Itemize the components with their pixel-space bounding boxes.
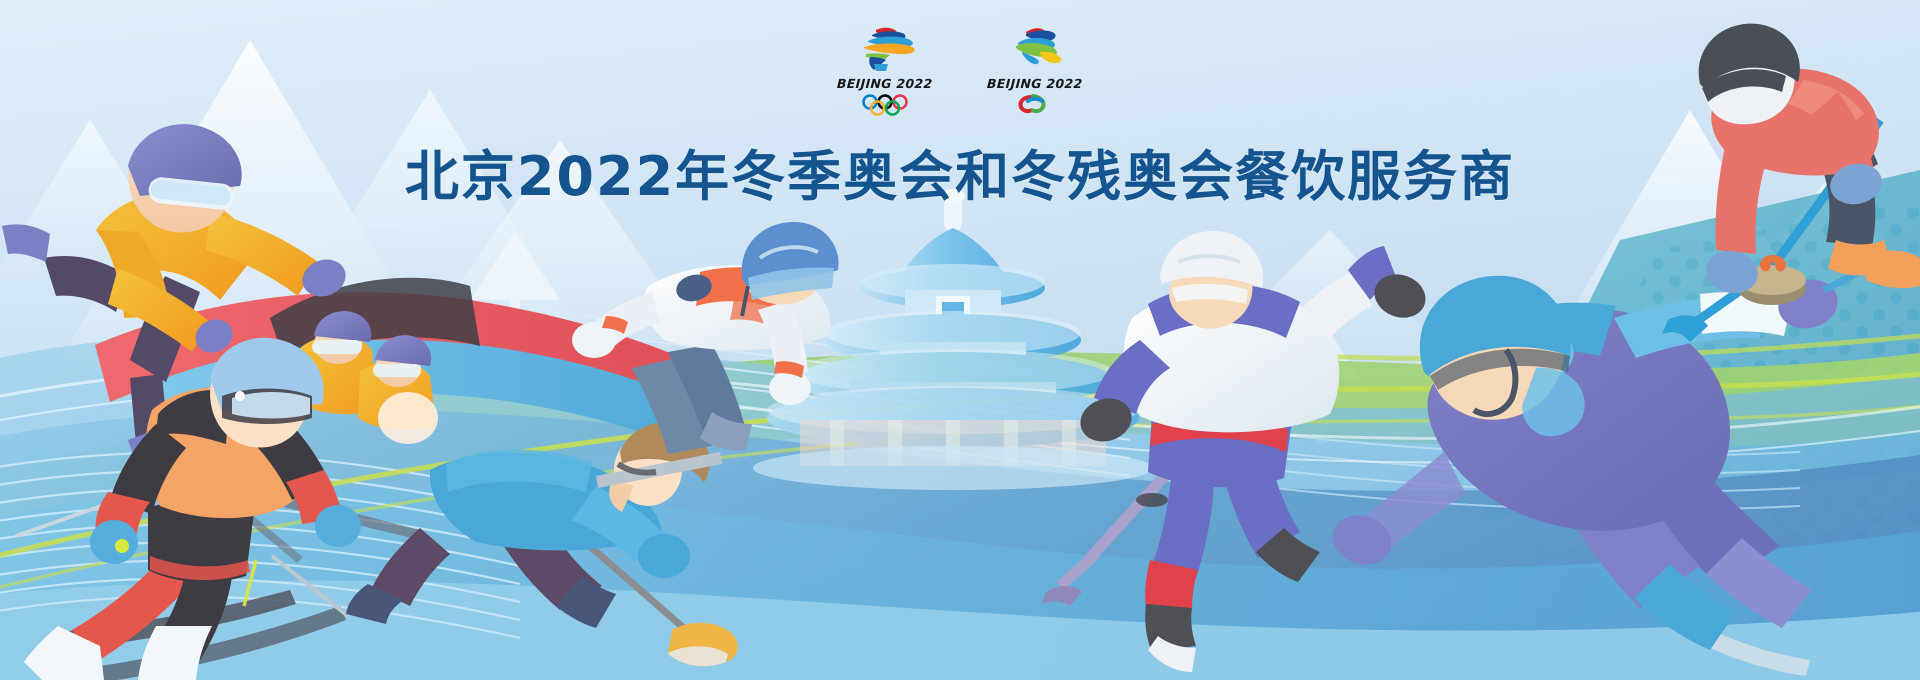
athlete-ice-hockey — [1042, 231, 1432, 672]
olympics-banner: BEIJING 2022 — [0, 0, 1920, 680]
athlete-illustrations — [0, 0, 1920, 680]
athlete-speed-skater-right — [1326, 262, 1880, 676]
athlete-curler-left — [346, 422, 738, 666]
